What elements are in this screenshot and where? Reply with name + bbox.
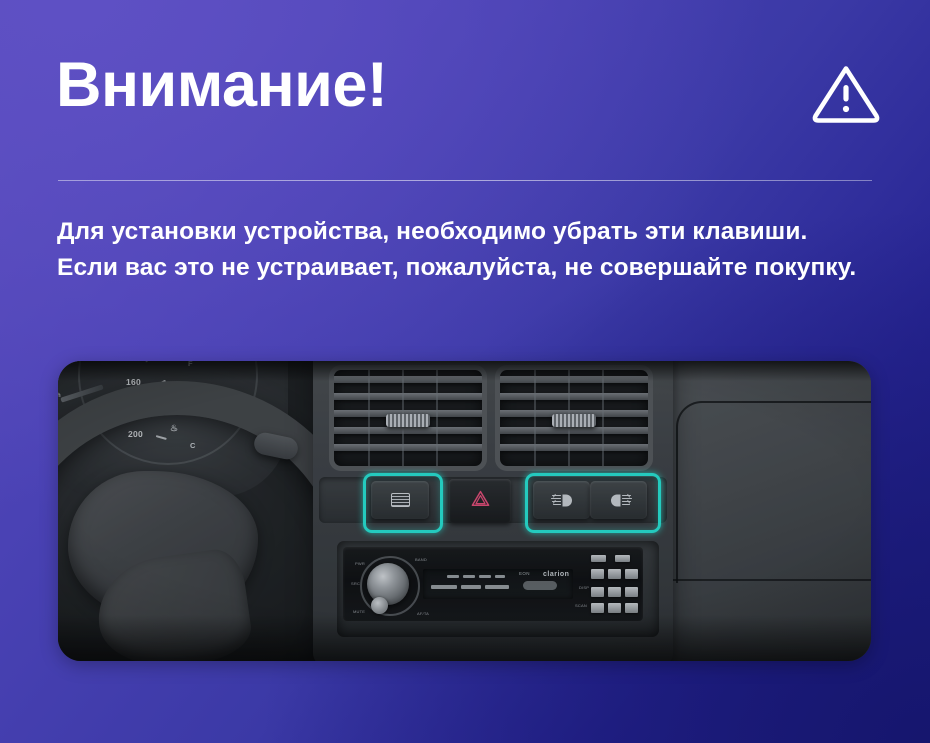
warning-paragraph: Для установки устройства, необходимо убр… <box>57 214 857 286</box>
promo-warning-page: Внимание! Для установки устройства, необ… <box>0 0 930 743</box>
dash-top-shading <box>58 361 871 381</box>
vent-adjuster-left[interactable] <box>386 414 430 427</box>
hazard-triangle-icon <box>471 490 490 512</box>
secondary-knob[interactable] <box>371 597 388 614</box>
hazard-lights-button[interactable] <box>449 479 511 523</box>
rear-fog-light-button[interactable] <box>590 481 647 519</box>
rear-defogger-button[interactable] <box>371 481 429 519</box>
header-divider <box>58 180 872 181</box>
defogger-icon <box>391 493 410 507</box>
dashboard-photo: km/h 140 160 180 200 F E C ♨ <box>58 361 871 661</box>
dash-bottom-shading <box>58 615 871 661</box>
rear-fog-lamp-icon <box>607 493 631 507</box>
radio-brand-label: clarion <box>543 571 569 578</box>
warning-triangle-icon <box>810 58 882 130</box>
vent-adjuster-right[interactable] <box>552 414 596 427</box>
front-fog-light-button[interactable] <box>533 481 590 519</box>
speed-unit-label: km/h <box>58 393 61 399</box>
page-title: Внимание! <box>56 52 387 118</box>
front-fog-lamp-icon <box>550 493 574 507</box>
glove-box-seam <box>676 401 871 583</box>
photo-scene: km/h 140 160 180 200 F E C ♨ <box>58 361 871 661</box>
car-stereo-head-unit[interactable]: EON clarion PWR SRC MUTE BAND AF/TA DISP… <box>343 547 643 621</box>
glove-box-seam-lower <box>658 579 871 581</box>
